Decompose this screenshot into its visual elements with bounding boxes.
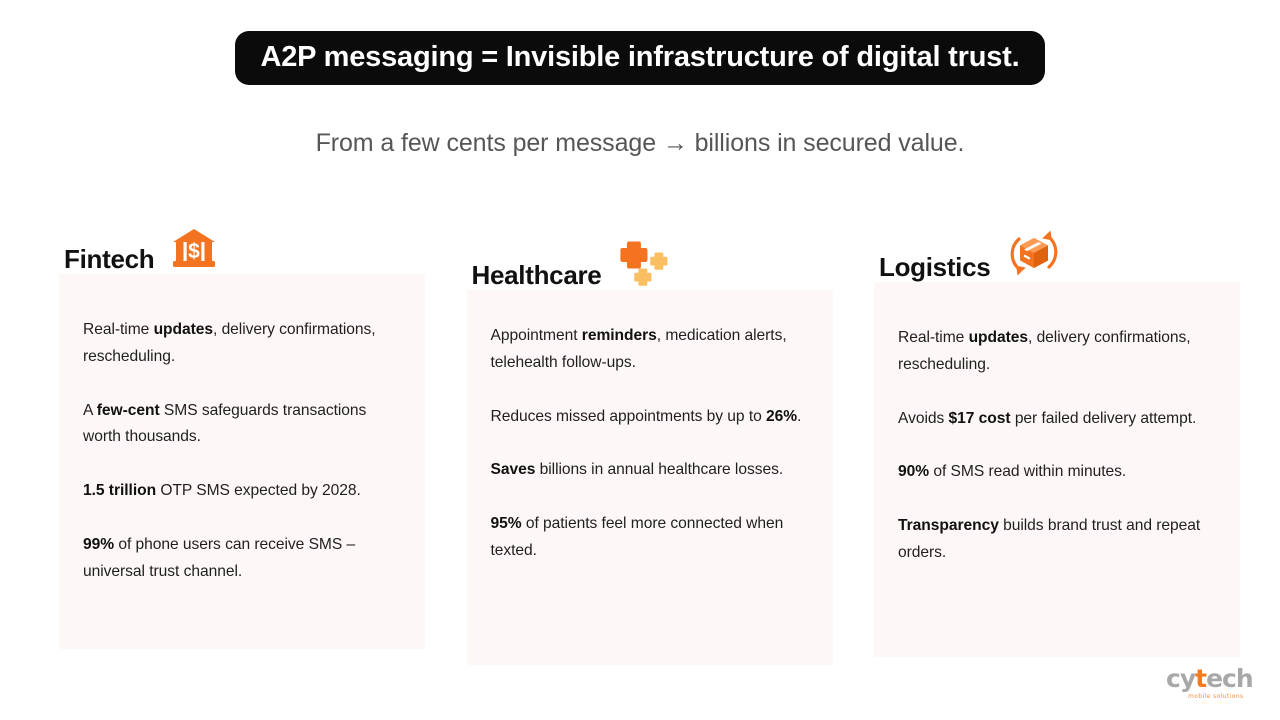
card-paragraph: Real-time updates, delivery confirmation… [898,325,1216,379]
column-healthcare: Healthcare Appointment reminders, medica… [467,216,833,665]
column-logistics: Logistics Real-time updates, delivery co… [874,216,1240,665]
column-header-healthcare: Healthcare [467,216,833,290]
body-text: Reduces missed appointments by up to [491,408,767,425]
highlight-text: 99% [83,536,114,553]
highlight-text: 26% [766,408,797,425]
highlight-text: updates [154,321,213,338]
title-banner: A2P messaging = Invisible infrastructure… [0,31,1280,85]
card-paragraph: Appointment reminders, medication alerts… [491,323,809,377]
body-text: Avoids [898,410,949,427]
highlight-text: Saves [491,461,536,478]
body-text: billions in annual healthcare losses. [535,461,783,478]
logo-name-part2: ech [1206,664,1253,693]
body-text: Real-time [898,329,969,346]
logo-wordmark: cytech [1166,666,1262,691]
card-healthcare: Appointment reminders, medication alerts… [467,290,833,665]
column-header-fintech: Fintech $ [59,216,425,274]
column-title-healthcare: Healthcare [472,262,602,290]
body-text: A [83,402,97,419]
card-paragraph: Avoids $17 cost per failed delivery atte… [898,406,1216,433]
industry-columns: Fintech $ Real-time updates, delivery co… [59,216,1240,665]
highlight-text: 90% [898,463,929,480]
cytech-logo: cytech mobile solutions [1166,666,1262,704]
card-fintech: Real-time updates, delivery confirmation… [59,274,425,649]
body-text: Real-time [83,321,154,338]
logo-name-accent: t [1195,664,1206,693]
bank-dollar-icon: $ [170,225,218,274]
highlight-text: $17 cost [949,410,1011,427]
body-text: Appointment [491,327,582,344]
body-text: of phone users can receive SMS – univers… [83,536,355,580]
card-paragraph: 1.5 trillion OTP SMS expected by 2028. [83,478,401,505]
card-paragraph: A few-cent SMS safeguards transactions w… [83,398,401,452]
highlight-text: reminders [582,327,657,344]
highlight-text: updates [969,329,1028,346]
card-paragraph: 95% of patients feel more connected when… [491,511,809,565]
highlight-text: Transparency [898,517,999,534]
column-title-logistics: Logistics [879,254,990,282]
card-paragraph: Transparency builds brand trust and repe… [898,513,1216,567]
card-paragraph: Real-time updates, delivery confirmation… [83,317,401,371]
page-title: A2P messaging = Invisible infrastructure… [235,31,1046,85]
package-refresh-icon [1006,225,1062,282]
card-paragraph: 90% of SMS read within minutes. [898,459,1216,486]
card-paragraph: Saves billions in annual healthcare loss… [491,457,809,484]
body-text: of patients feel more connected when tex… [491,515,784,559]
column-header-logistics: Logistics [874,216,1240,282]
column-title-fintech: Fintech [64,246,154,274]
logo-name-part1: cy [1166,664,1195,693]
highlight-text: few-cent [97,402,160,419]
column-fintech: Fintech $ Real-time updates, delivery co… [59,216,425,665]
page-subtitle: From a few cents per message → billions … [0,129,1280,158]
highlight-text: 1.5 trillion [83,482,156,499]
logo-tagline: mobile solutions [1166,693,1262,700]
body-text: OTP SMS expected by 2028. [156,482,361,499]
card-paragraph: Reduces missed appointments by up to 26%… [491,404,809,431]
body-text: of SMS read within minutes. [929,463,1126,480]
card-logistics: Real-time updates, delivery confirmation… [874,282,1240,657]
body-text: per failed delivery attempt. [1011,410,1197,427]
card-paragraph: 99% of phone users can receive SMS – uni… [83,532,401,586]
medical-crosses-icon [617,237,669,290]
body-text: . [797,408,801,425]
highlight-text: 95% [491,515,522,532]
svg-text:$: $ [189,240,201,263]
